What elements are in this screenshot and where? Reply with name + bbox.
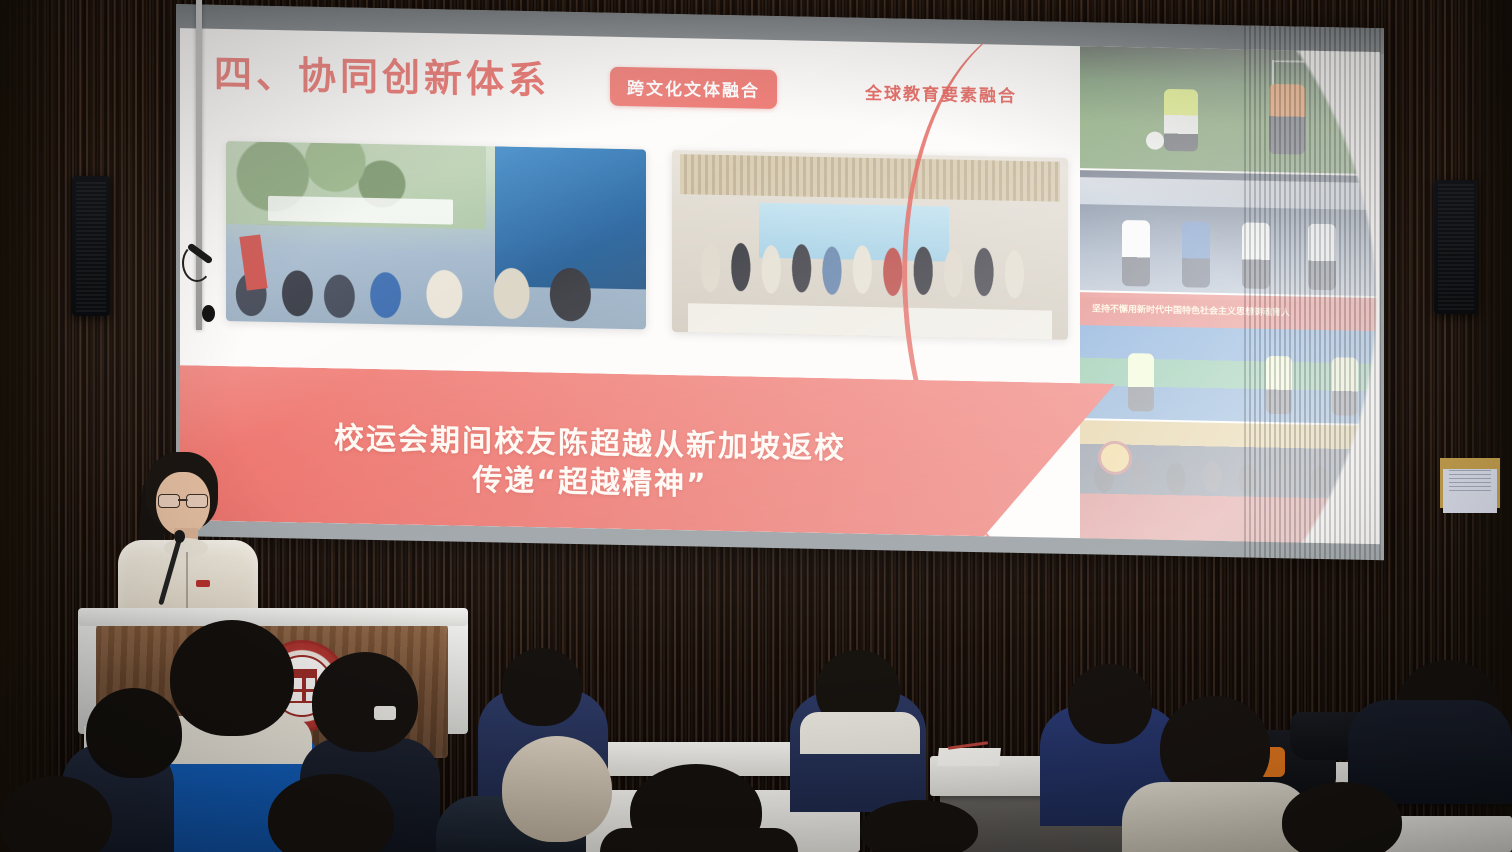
student-head bbox=[502, 648, 582, 726]
volleyball-player bbox=[1332, 358, 1358, 417]
notebook-on-desk bbox=[937, 748, 1001, 766]
student-head bbox=[312, 652, 418, 752]
slide-section-title: 四、协同创新体系 bbox=[214, 43, 550, 105]
student-head bbox=[860, 800, 978, 852]
certificate-page bbox=[1443, 469, 1497, 513]
framed-certificate bbox=[1440, 458, 1500, 508]
right-wall-speaker bbox=[1434, 180, 1478, 314]
speaker-grill-icon bbox=[76, 180, 106, 312]
left-wall-speaker bbox=[72, 176, 110, 316]
volleyball-player bbox=[1266, 356, 1292, 415]
lecture-hall-scene: 四、协同创新体系 跨文化文体融合 全球教育要素融合 引领辐射融合 bbox=[0, 0, 1512, 852]
glasses-icon bbox=[158, 494, 208, 506]
slide-banner-caption: 校运会期间校友陈超越从新加坡返校 传递“超越精神” bbox=[180, 416, 1000, 510]
campus-ceremony-photo bbox=[226, 141, 646, 329]
projection-screen: 四、协同创新体系 跨文化文体融合 全球教育要素融合 引领辐射融合 bbox=[176, 4, 1384, 560]
student-head bbox=[1068, 664, 1152, 744]
jacket-logo bbox=[196, 580, 210, 587]
student-head-blond bbox=[502, 736, 612, 842]
speaker-grill-icon bbox=[1438, 184, 1474, 310]
soccer-player-orange bbox=[1269, 84, 1305, 155]
projection-screen-surface: 四、协同创新体系 跨文化文体融合 全球教育要素融合 引领辐射融合 bbox=[176, 4, 1384, 560]
student-hood bbox=[800, 712, 920, 754]
student-head bbox=[170, 620, 294, 736]
student-head bbox=[1282, 782, 1402, 852]
podium-top-surface bbox=[78, 608, 468, 626]
presentation-slide: 四、协同创新体系 跨文化文体融合 全球教育要素融合 引领辐射融合 bbox=[180, 28, 1380, 544]
slide-tag-active[interactable]: 跨文化文体融合 bbox=[610, 67, 777, 109]
jacket-brand-logo bbox=[374, 706, 396, 720]
student-torso bbox=[600, 828, 798, 852]
wall-left-shadow bbox=[0, 0, 60, 852]
basketball-player bbox=[1242, 223, 1270, 290]
basketball-player bbox=[1308, 224, 1336, 291]
student-head bbox=[86, 688, 182, 778]
boom-microphone-icon bbox=[202, 305, 215, 322]
podium-microphone-icon bbox=[174, 530, 185, 543]
photo-people-group bbox=[226, 217, 646, 330]
rally-badge-icon bbox=[1331, 500, 1365, 535]
